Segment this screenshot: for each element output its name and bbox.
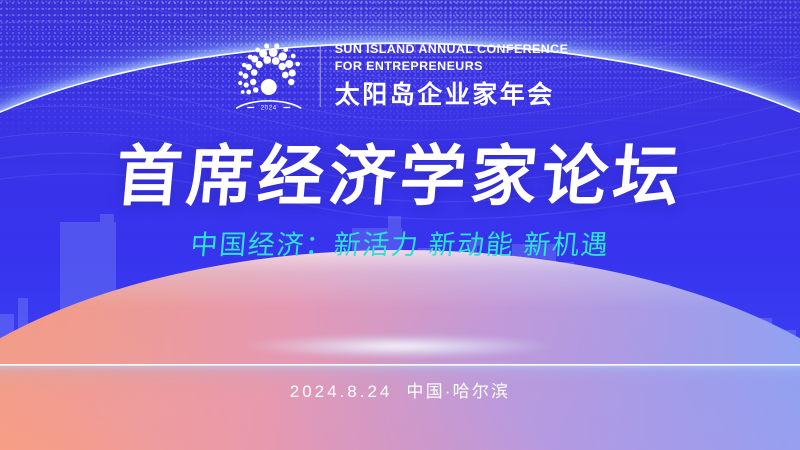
event-date: 2024.8.24 (290, 382, 393, 401)
sun-island-dots-logo-icon: 2024 (232, 38, 306, 114)
logo-english-line-2: FOR ENTREPRENEURS (335, 59, 569, 74)
bottom-gradient-dome (0, 250, 800, 450)
logo-text-column: SUN ISLAND ANNUAL CONFERENCE FOR ENTREPR… (335, 42, 569, 111)
logo-chinese-brand: 太阳岛企业家年会 (335, 79, 569, 111)
logo-divider (320, 45, 321, 107)
conference-banner: 2024 SUN ISLAND ANNUAL CONFERENCE FOR EN… (0, 0, 800, 450)
subtitle: 中国经济：新活力 新动能 新机遇 (0, 228, 800, 262)
footer-date-location: 2024.8.24中国·哈尔滨 (0, 381, 800, 403)
logo-year-text: 2024 (261, 105, 277, 112)
logo-english-line-1: SUN ISLAND ANNUAL CONFERENCE (335, 42, 569, 57)
event-location: 中国·哈尔滨 (406, 382, 510, 401)
main-title: 首席经济学家论坛 (0, 137, 800, 215)
logo-lockup: 2024 SUN ISLAND ANNUAL CONFERENCE FOR EN… (232, 38, 569, 114)
